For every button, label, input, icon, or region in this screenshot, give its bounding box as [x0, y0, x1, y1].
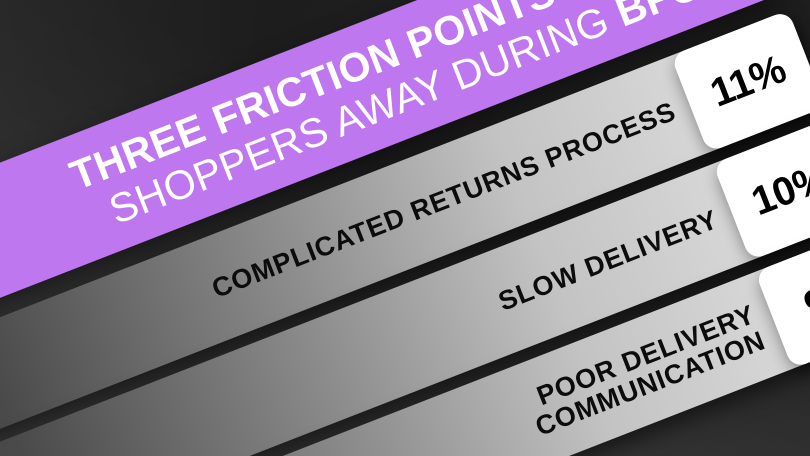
- percentage-value: 10%: [746, 154, 810, 224]
- percentage-value: 9%: [798, 266, 810, 329]
- infographic-canvas: THREE FRICTION POINTS DRIVING SHOPPERS A…: [0, 0, 810, 456]
- headline-line2-bold-part: BFCM:: [609, 0, 751, 35]
- percentage-value: 11%: [704, 46, 791, 116]
- percentage-badge: 11%: [671, 10, 810, 153]
- tilted-composition: THREE FRICTION POINTS DRIVING SHOPPERS A…: [0, 0, 810, 456]
